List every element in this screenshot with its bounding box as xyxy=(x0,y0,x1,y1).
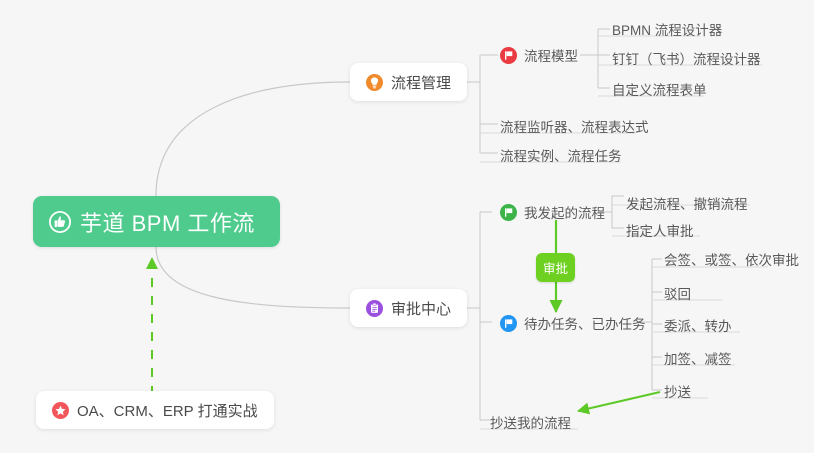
node-start-cancel[interactable]: 发起流程、撤销流程 xyxy=(618,188,754,218)
node-listener-expression[interactable]: 流程监听器、流程表达式 xyxy=(492,111,655,141)
branch-approval-center[interactable]: 审批中心 xyxy=(350,289,467,327)
arrow-cc-to-cc-to-me xyxy=(578,392,660,411)
branch-process-management-label: 流程管理 xyxy=(391,72,451,93)
node-todo-done-label: 待办任务、已办任务 xyxy=(524,313,646,333)
approval-badge[interactable]: 审批 xyxy=(536,253,575,282)
node-my-initiated[interactable]: 我发起的流程 xyxy=(492,197,611,227)
node-reject[interactable]: 驳回 xyxy=(656,278,697,308)
node-reject-label: 驳回 xyxy=(664,283,691,303)
node-start-cancel-label: 发起流程、撤销流程 xyxy=(626,193,748,213)
node-my-initiated-label: 我发起的流程 xyxy=(524,202,605,222)
connector-root-to-approval-center xyxy=(156,247,350,308)
flag-icon xyxy=(500,315,517,332)
lightbulb-icon xyxy=(366,74,383,91)
node-custom-process-form[interactable]: 自定义流程表单 xyxy=(604,74,713,104)
mindmap-canvas[interactable]: 芋道 BPM 工作流 OA、CRM、ERP 打通实战 流程管理 xyxy=(0,0,814,453)
node-multi-sign[interactable]: 会签、或签、依次审批 xyxy=(656,244,805,274)
connector-root-to-process-management xyxy=(156,82,350,196)
node-cc-to-me[interactable]: 抄送我的流程 xyxy=(482,407,577,437)
node-todo-done[interactable]: 待办任务、已办任务 xyxy=(492,308,652,338)
approval-badge-label: 审批 xyxy=(543,258,568,277)
node-delegate-transfer-label: 委派、转办 xyxy=(664,315,732,335)
clipboard-icon xyxy=(366,300,383,317)
node-cc-label: 抄送 xyxy=(664,381,691,401)
node-add-remove-sign[interactable]: 加签、减签 xyxy=(656,343,738,373)
node-delegate-transfer[interactable]: 委派、转办 xyxy=(656,310,738,340)
floating-note-label: OA、CRM、ERP 打通实战 xyxy=(77,400,258,421)
node-process-model[interactable]: 流程模型 xyxy=(492,40,584,70)
root-label: 芋道 BPM 工作流 xyxy=(80,206,255,238)
flag-icon xyxy=(500,204,517,221)
node-instance-task[interactable]: 流程实例、流程任务 xyxy=(492,140,628,170)
branch-approval-center-label: 审批中心 xyxy=(391,298,451,319)
thumbs-up-icon xyxy=(49,211,71,233)
root-node[interactable]: 芋道 BPM 工作流 xyxy=(33,196,280,247)
node-bpmn-designer-label: BPMN 流程设计器 xyxy=(612,19,722,39)
node-process-model-label: 流程模型 xyxy=(524,45,578,65)
node-listener-expression-label: 流程监听器、流程表达式 xyxy=(500,116,649,136)
node-bpmn-designer[interactable]: BPMN 流程设计器 xyxy=(604,14,728,44)
node-assignee-approval-label: 指定人审批 xyxy=(626,220,694,240)
branch-process-management[interactable]: 流程管理 xyxy=(350,63,467,101)
node-assignee-approval[interactable]: 指定人审批 xyxy=(618,215,700,245)
node-dingtalk-feishu-designer-label: 钉钉（飞书）流程设计器 xyxy=(612,48,761,68)
node-cc[interactable]: 抄送 xyxy=(656,376,697,406)
flag-icon xyxy=(500,47,517,64)
node-add-remove-sign-label: 加签、减签 xyxy=(664,348,732,368)
node-cc-to-me-label: 抄送我的流程 xyxy=(490,412,571,432)
floating-note[interactable]: OA、CRM、ERP 打通实战 xyxy=(36,391,274,429)
node-multi-sign-label: 会签、或签、依次审批 xyxy=(664,249,799,269)
node-dingtalk-feishu-designer[interactable]: 钉钉（飞书）流程设计器 xyxy=(604,43,767,73)
star-icon xyxy=(52,402,69,419)
node-custom-process-form-label: 自定义流程表单 xyxy=(612,79,707,99)
node-instance-task-label: 流程实例、流程任务 xyxy=(500,145,622,165)
